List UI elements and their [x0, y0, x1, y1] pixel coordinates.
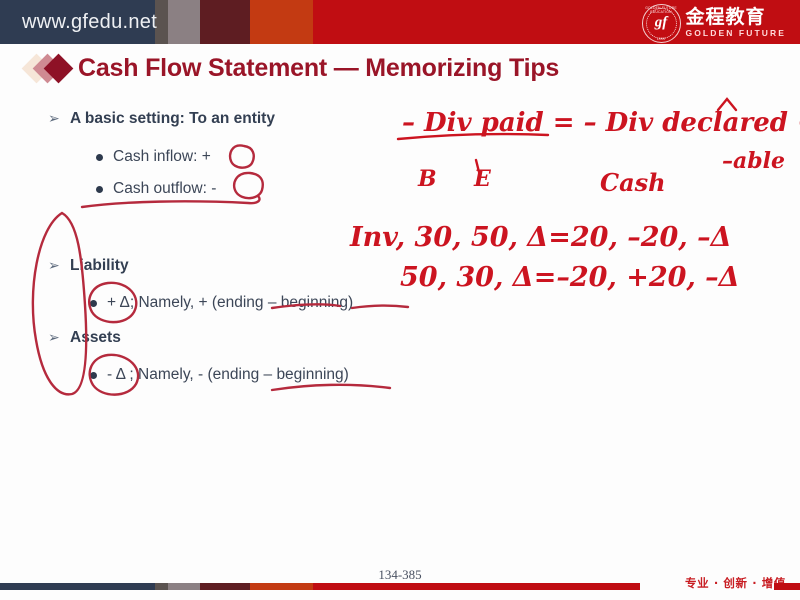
bullet-liability-delta-label: + Δ; Namely, + (ending – beginning) — [107, 294, 353, 312]
slide-body: ➢A basic setting: To an entity Cash infl… — [0, 0, 800, 600]
bullet-assets-label: Assets — [70, 329, 121, 346]
footer-segment-dark-gray — [155, 583, 168, 590]
footer-segment-orange — [250, 583, 313, 590]
bullet-cash-outflow-label: Cash outflow: - — [113, 180, 216, 198]
dot-bullet-icon — [90, 372, 97, 379]
arrow-bullet-icon: ➢ — [48, 110, 70, 127]
footer-tagline: 专业 · 创新 · 增值 — [685, 575, 786, 591]
arrow-bullet-icon: ➢ — [48, 257, 70, 274]
bullet-liability-delta: + Δ; Namely, + (ending – beginning) — [90, 294, 353, 312]
bullet-assets-delta-label: - Δ ; Namely, - (ending – beginning) — [107, 366, 349, 384]
bullet-liability-label: Liability — [70, 257, 129, 274]
bullet-cash-outflow: Cash outflow: - — [96, 180, 216, 198]
bullet-basic-setting-label: A basic setting: To an entity — [70, 110, 275, 127]
dot-bullet-icon — [96, 186, 103, 193]
footer-bar: 134-385 专业 · 创新 · 增值 — [0, 566, 800, 600]
bullet-cash-inflow: Cash inflow: + — [96, 148, 211, 166]
bullet-basic-setting: ➢A basic setting: To an entity — [48, 110, 275, 128]
bullet-cash-inflow-label: Cash inflow: + — [113, 148, 211, 166]
footer-end-bar — [774, 583, 800, 590]
footer-segment-maroon — [200, 583, 250, 590]
bullet-liability: ➢Liability — [48, 257, 129, 275]
footer-segment-red — [313, 583, 640, 590]
footer-color-bar — [0, 583, 640, 590]
dot-bullet-icon — [90, 300, 97, 307]
bullet-assets: ➢Assets — [48, 329, 121, 347]
arrow-bullet-icon: ➢ — [48, 329, 70, 346]
dot-bullet-icon — [96, 154, 103, 161]
page-number: 134-385 — [0, 567, 800, 583]
footer-segment-gray — [168, 583, 200, 590]
footer-segment-navy — [0, 583, 155, 590]
bullet-assets-delta: - Δ ; Namely, - (ending – beginning) — [90, 366, 349, 384]
slide: www.gfedu.net GOLDEN FUTURE EDUCATION gf… — [0, 0, 800, 600]
